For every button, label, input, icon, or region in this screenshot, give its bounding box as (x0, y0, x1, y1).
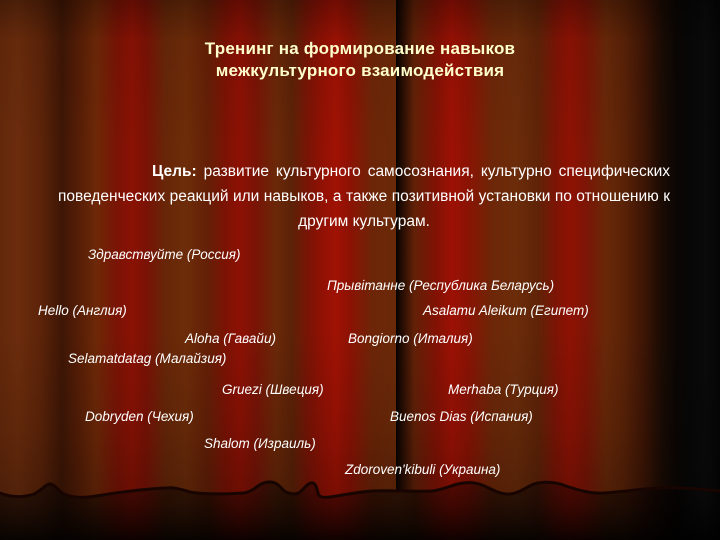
slide-content: Тренинг на формирование навыков межкульт… (0, 0, 720, 540)
greeting-item: Gruezi (Швеция) (222, 381, 324, 398)
greetings-list: Здравствуйте (Россия)Прывітанне (Республ… (0, 246, 720, 476)
greeting-item: Здравствуйте (Россия) (88, 246, 240, 263)
greeting-item: Selamatdatag (Малайзия) (68, 350, 226, 367)
goal-paragraph: Цель: развитие культурного самосознания,… (58, 159, 670, 234)
greeting-item: Hello (Англия) (38, 302, 127, 319)
greeting-item: Merhaba (Турция) (448, 381, 559, 398)
goal-text: развитие культурного самосознания, культ… (58, 163, 670, 230)
greeting-item: Dobryden (Чехия) (85, 408, 194, 425)
slide-title-line-2: межкультурного взаимодействия (60, 60, 660, 82)
greeting-item: Zdoroven'kibuli (Украина) (345, 461, 500, 478)
slide-title-line-1: Тренинг на формирование навыков (60, 38, 660, 60)
greeting-item: Прывітанне (Республика Беларусь) (327, 277, 554, 294)
greeting-item: Buenos Dias (Испания) (390, 408, 533, 425)
slide-title: Тренинг на формирование навыков межкульт… (60, 38, 660, 82)
greeting-item: Aloha (Гавайи) (185, 330, 276, 347)
greeting-item: Asalamu Aleikum (Египет) (423, 302, 589, 319)
slide: Тренинг на формирование навыков межкульт… (0, 0, 720, 540)
greeting-item: Bongiorno (Италия) (348, 330, 473, 347)
greeting-item: Shalom (Израиль) (204, 435, 316, 452)
goal-label: Цель: (152, 163, 197, 180)
